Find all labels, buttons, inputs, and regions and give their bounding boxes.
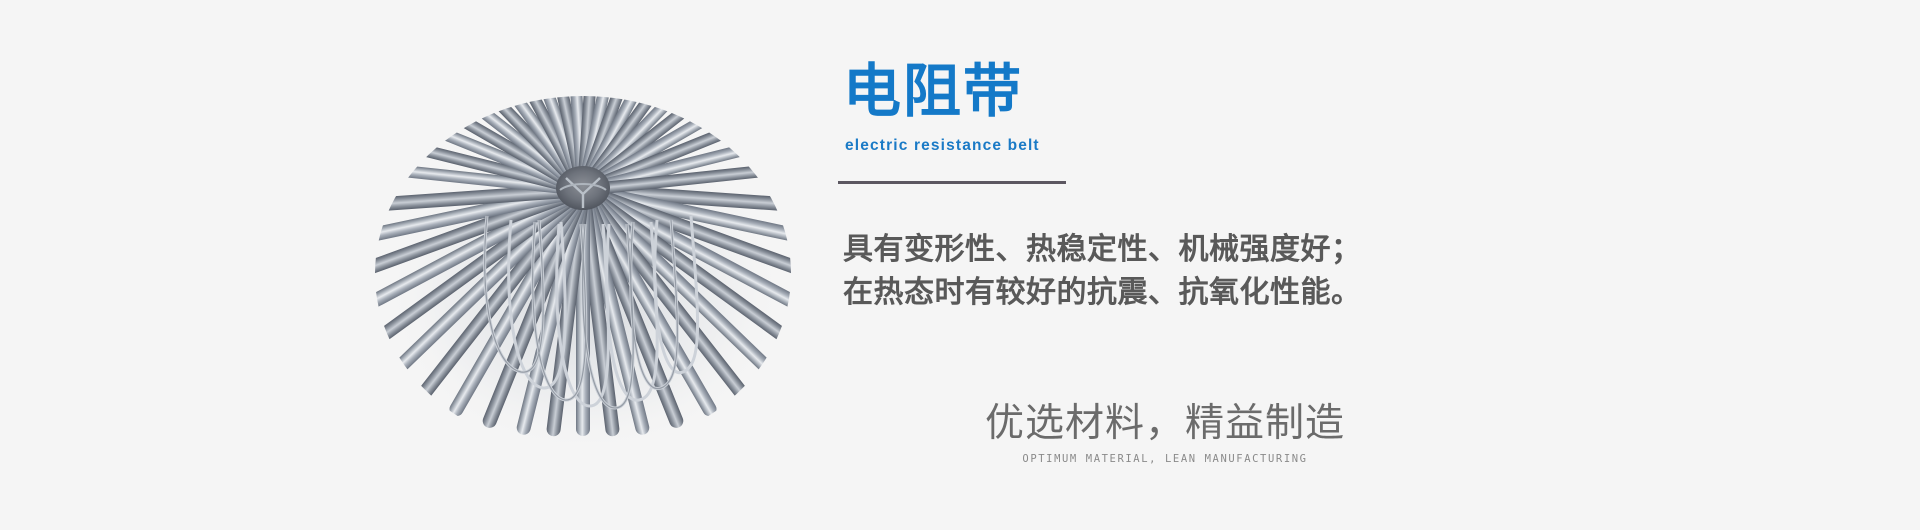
- product-image: [370, 78, 796, 442]
- coil-center-hub: [556, 166, 610, 210]
- page-title: 电阻带: [843, 58, 1023, 124]
- product-banner: 电阻带 electric resistance belt 具有变形性、热稳定性、…: [0, 0, 1920, 530]
- resistance-belt-coil-illustration: [370, 78, 796, 442]
- product-description: 具有变形性、热稳定性、机械强度好； 在热态时有较好的抗震、抗氧化性能。: [843, 228, 1362, 314]
- content-column: 电阻带 electric resistance belt 具有变形性、热稳定性、…: [843, 0, 1843, 530]
- description-line-2: 在热态时有较好的抗震、抗氧化性能。: [843, 271, 1362, 314]
- tagline-block: 优选材料，精益制造 OPTIMUM MATERIAL, LEAN MANUFAC…: [955, 400, 1375, 466]
- tagline-chinese: 优选材料，精益制造: [955, 400, 1375, 448]
- tagline-english: OPTIMUM MATERIAL, LEAN MANUFACTURING: [955, 452, 1375, 466]
- title-divider: [838, 181, 1066, 184]
- page-subtitle-english: electric resistance belt: [845, 136, 1040, 156]
- product-figure: [370, 78, 796, 442]
- description-line-1: 具有变形性、热稳定性、机械强度好；: [843, 228, 1362, 271]
